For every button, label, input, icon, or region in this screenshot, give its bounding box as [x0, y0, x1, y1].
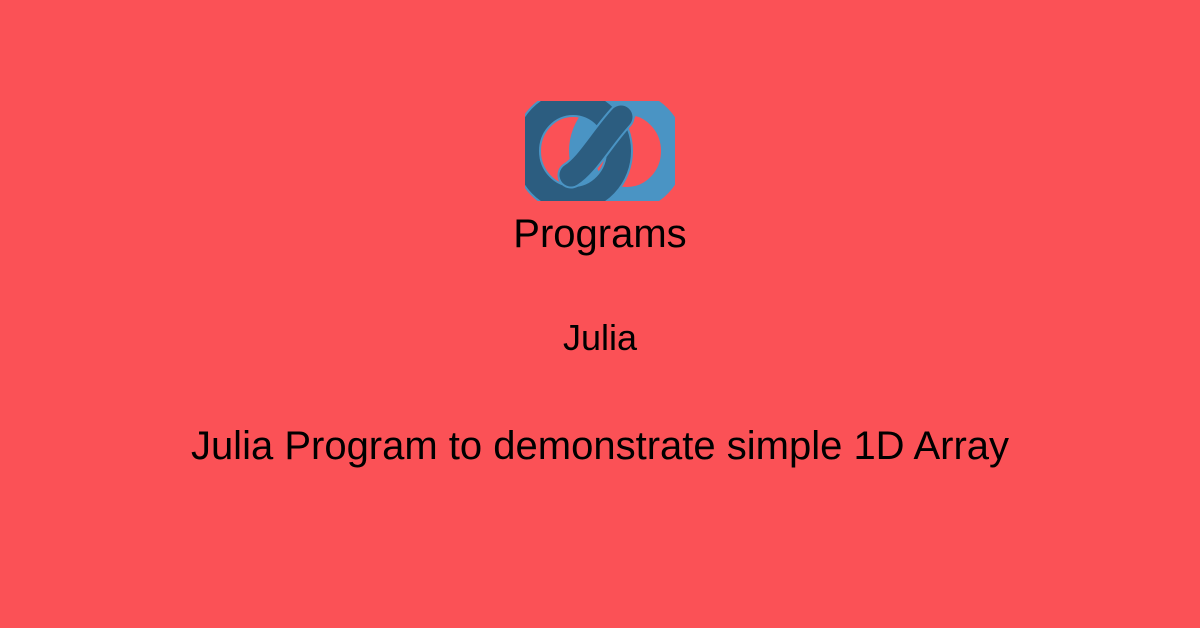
- page-title: Julia Program to demonstrate simple 1D A…: [0, 420, 1200, 472]
- language-name: Julia: [0, 316, 1200, 360]
- brand-name: Programs: [0, 210, 1200, 258]
- share-card: Programs Julia Julia Program to demonstr…: [0, 0, 1200, 628]
- programiz-infinity-logo-icon: [525, 101, 675, 201]
